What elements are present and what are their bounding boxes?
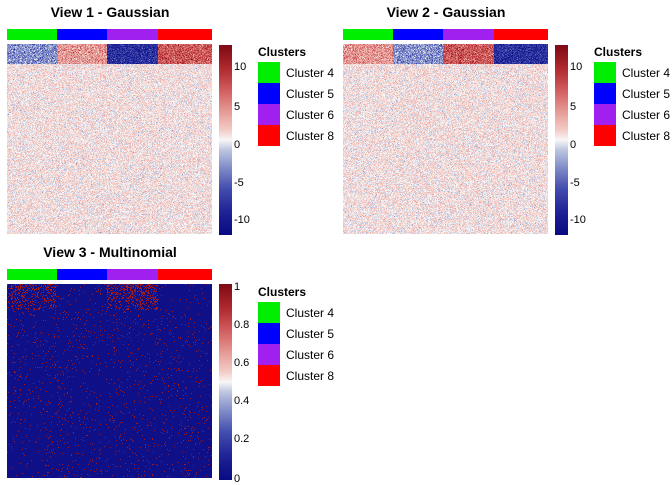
- legend-label-cluster-6: Cluster 6: [286, 109, 334, 121]
- legend-label-cluster-5: Cluster 5: [622, 88, 670, 100]
- legend-title: Clusters: [258, 286, 306, 298]
- colorbar-tick: 0.8: [234, 320, 249, 331]
- annotation-segment-cluster-8: [494, 29, 548, 40]
- heatmap-canvas-view-3: [7, 284, 212, 478]
- annotation-segment-cluster-5: [393, 29, 443, 40]
- legend-swatch-cluster-5: [258, 83, 280, 104]
- panel-title-view-2: View 2 - Gaussian: [343, 4, 549, 20]
- legend-view-2: Clusters Cluster 4 Cluster 5 Cluster 6 C…: [592, 44, 672, 154]
- colorbar-tick: 1: [234, 282, 240, 293]
- legend-swatch-cluster-8: [258, 125, 280, 146]
- annotation-segment-cluster-4: [7, 29, 57, 40]
- panel-title-view-3: View 3 - Multinomial: [7, 244, 213, 260]
- colorbar-tick: 0.4: [234, 396, 249, 407]
- colorbar-gradient-view-3: [219, 284, 232, 480]
- legend-swatch-cluster-4: [594, 62, 616, 83]
- legend-swatch-cluster-8: [258, 365, 280, 386]
- colorbar-tick: -10: [234, 215, 250, 226]
- legend-label-cluster-8: Cluster 8: [286, 130, 334, 142]
- legend-label-cluster-6: Cluster 6: [286, 349, 334, 361]
- cluster-annotation-bar-view-2: [343, 29, 548, 40]
- panel-view-2: View 2 - Gaussian 10 5 0 -5 -10 Clusters…: [336, 0, 672, 240]
- colorbar-tick: 0: [234, 140, 240, 151]
- heatmap-canvas-view-2: [343, 44, 548, 234]
- legend-title: Clusters: [594, 46, 642, 58]
- cluster-annotation-bar-view-3: [7, 269, 212, 280]
- legend-view-1: Clusters Cluster 4 Cluster 5 Cluster 6 C…: [256, 44, 336, 154]
- legend-swatches: [594, 62, 616, 146]
- heatmap-body-view-2: [343, 44, 548, 234]
- legend-label-cluster-4: Cluster 4: [622, 67, 670, 79]
- panel-title-view-1: View 1 - Gaussian: [7, 4, 213, 20]
- colorbar-view-3: [219, 284, 232, 480]
- colorbar-tick: -5: [234, 178, 244, 189]
- colorbar-view-2: [555, 45, 568, 235]
- legend-swatch-cluster-4: [258, 302, 280, 323]
- legend-swatch-cluster-6: [594, 104, 616, 125]
- heatmap-body-view-1: [7, 44, 212, 234]
- legend-swatches: [258, 302, 280, 386]
- annotation-segment-cluster-8: [158, 29, 212, 40]
- legend-view-3: Clusters Cluster 4 Cluster 5 Cluster 6 C…: [256, 284, 336, 394]
- colorbar-tick: 5: [234, 102, 240, 113]
- legend-label-cluster-4: Cluster 4: [286, 67, 334, 79]
- annotation-segment-cluster-5: [57, 29, 107, 40]
- legend-swatch-cluster-5: [594, 83, 616, 104]
- legend-label-cluster-6: Cluster 6: [622, 109, 670, 121]
- legend-swatch-cluster-4: [258, 62, 280, 83]
- annotation-segment-cluster-8: [158, 269, 212, 280]
- colorbar-tick: 10: [234, 62, 246, 73]
- colorbar-tick: 10: [570, 62, 582, 73]
- colorbar-tick: 5: [570, 102, 576, 113]
- legend-label-cluster-5: Cluster 5: [286, 328, 334, 340]
- heatmap-canvas-view-1: [7, 44, 212, 234]
- colorbar-tick: -5: [570, 178, 580, 189]
- annotation-segment-cluster-6: [107, 29, 157, 40]
- heatmap-body-view-3: [7, 284, 212, 478]
- legend-swatch-cluster-8: [594, 125, 616, 146]
- annotation-segment-cluster-4: [7, 269, 57, 280]
- annotation-segment-cluster-4: [343, 29, 393, 40]
- legend-label-cluster-4: Cluster 4: [286, 307, 334, 319]
- colorbar-tick: 0: [570, 140, 576, 151]
- annotation-segment-cluster-6: [443, 29, 493, 40]
- legend-swatch-cluster-5: [258, 323, 280, 344]
- annotation-segment-cluster-6: [107, 269, 157, 280]
- legend-swatches: [258, 62, 280, 146]
- panel-view-1: View 1 - Gaussian 10 5 0 -5 -10 Clusters…: [0, 0, 336, 240]
- legend-title: Clusters: [258, 46, 306, 58]
- panel-view-3: View 3 - Multinomial 1 0.8 0.6 0.4 0.2 0…: [0, 240, 336, 480]
- cluster-annotation-bar-view-1: [7, 29, 212, 40]
- legend-swatch-cluster-6: [258, 104, 280, 125]
- legend-label-cluster-8: Cluster 8: [286, 370, 334, 382]
- legend-swatch-cluster-6: [258, 344, 280, 365]
- colorbar-gradient-view-2: [555, 45, 568, 235]
- colorbar-tick: -10: [570, 215, 586, 226]
- colorbar-tick: 0.2: [234, 434, 249, 445]
- legend-label-cluster-8: Cluster 8: [622, 130, 670, 142]
- colorbar-tick: 0.6: [234, 358, 249, 369]
- legend-label-cluster-5: Cluster 5: [286, 88, 334, 100]
- annotation-segment-cluster-5: [57, 269, 107, 280]
- colorbar-view-1: [219, 45, 232, 235]
- colorbar-gradient-view-1: [219, 45, 232, 235]
